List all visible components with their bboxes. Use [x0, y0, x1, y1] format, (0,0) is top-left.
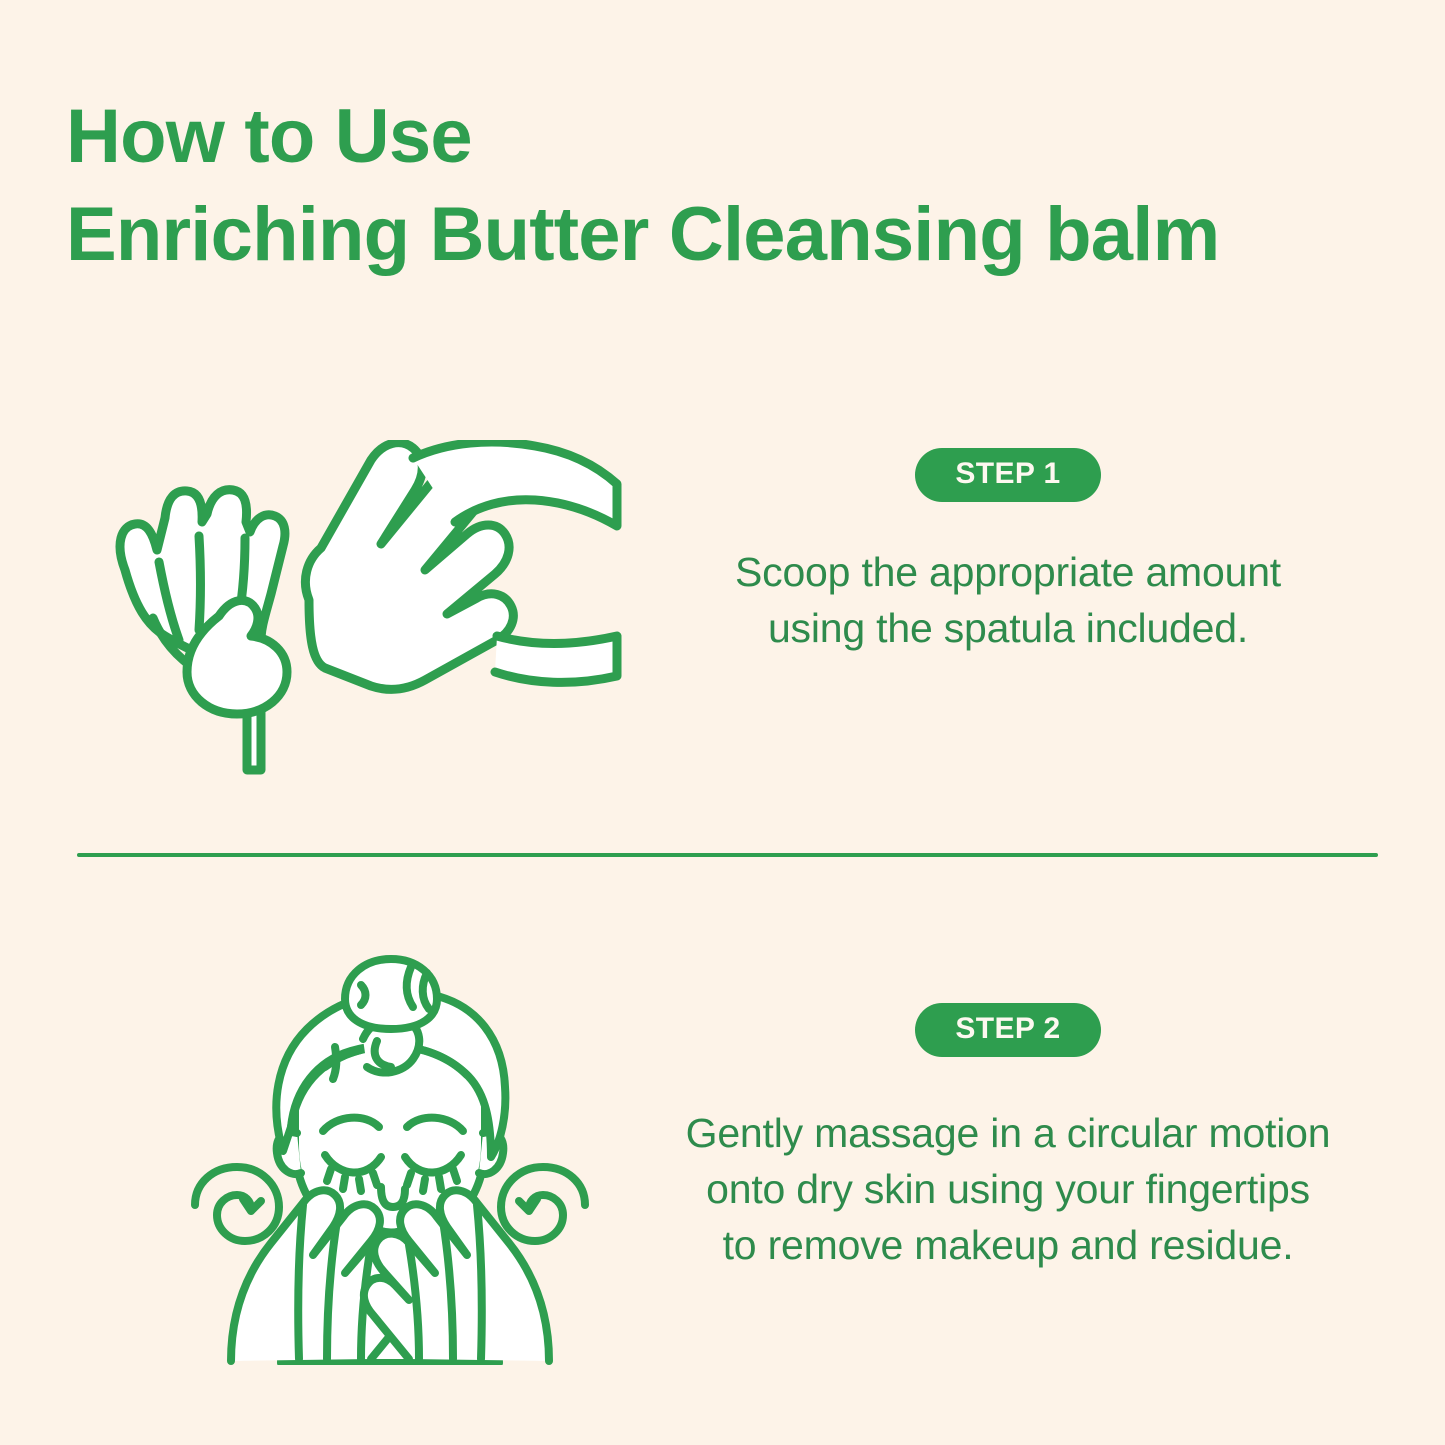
how-to-use-infographic: How to Use Enriching Butter Cleansing ba… [0, 0, 1445, 1445]
step-1-description: Scoop the appropriate amount using the s… [648, 544, 1368, 656]
step-1-section: STEP 1 Scoop the appropriate amount usin… [0, 430, 1445, 830]
step-2-badge: STEP 2 [915, 1003, 1100, 1057]
section-divider [77, 853, 1378, 857]
step-1-badge: STEP 1 [915, 448, 1100, 502]
step-2-text-column: STEP 2 Gently massage in a circular moti… [648, 1003, 1368, 1273]
hands-scooping-balm-with-spatula-illustration [95, 440, 625, 800]
step-1-text-column: STEP 1 Scoop the appropriate amount usin… [648, 448, 1368, 656]
woman-massaging-face-with-fingertips-illustration [185, 955, 595, 1365]
step-2-description: Gently massage in a circular motion onto… [648, 1105, 1368, 1273]
page-title: How to Use Enriching Butter Cleansing ba… [66, 88, 1396, 284]
step-2-section: STEP 2 Gently massage in a circular moti… [0, 945, 1445, 1375]
